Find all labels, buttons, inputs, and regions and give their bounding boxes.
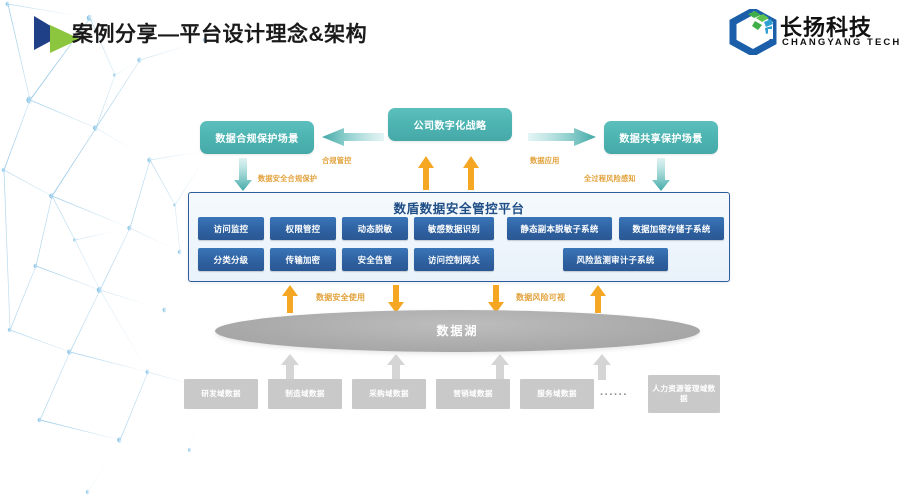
- brand-name-en: CHANGYANG TECH: [782, 37, 901, 48]
- arrow-down-left-icon: [233, 158, 253, 192]
- arrow-right-data-application-icon: [528, 127, 598, 147]
- platform-module-classification-grading[interactable]: 分类分级: [198, 248, 264, 271]
- source-box-manufacturing[interactable]: 制造域数据: [268, 379, 342, 409]
- arrow-up-source-1-icon: [280, 354, 300, 380]
- data-lake-shape: 数据湖: [215, 310, 700, 352]
- arrow-up-source-4-icon: [592, 354, 612, 380]
- platform-module-permission-control[interactable]: 权限管控: [270, 217, 336, 240]
- data-lake-label: 数据湖: [436, 322, 478, 339]
- caption-compliance-control: 合规管控: [322, 156, 352, 166]
- strategy-center-box[interactable]: 公司数字化战略: [388, 108, 512, 141]
- caption-data-risk-visibility: 数据风险可视: [516, 292, 565, 303]
- slide-header: 案例分享—平台设计理念&架构 长扬科技 CHANGYANG TECH: [0, 0, 916, 62]
- caption-data-security-usage: 数据安全使用: [316, 292, 365, 303]
- arrow-up-orange-left-icon: [417, 156, 435, 190]
- arrow-up-source-3-icon: [490, 354, 510, 380]
- platform-subsystem-encrypted-storage[interactable]: 数据加密存储子系统: [619, 217, 724, 240]
- platform-module-access-monitoring[interactable]: 访问监控: [198, 217, 264, 240]
- caption-data-security-compliance-protection: 数据安全合规保护: [258, 174, 317, 184]
- caption-full-process-risk-awareness: 全过程风险感知: [584, 174, 636, 184]
- arrow-up-source-2-icon: [386, 354, 406, 380]
- source-box-marketing[interactable]: 营销域数据: [436, 379, 510, 409]
- platform-module-transmission-encryption[interactable]: 传输加密: [270, 248, 336, 271]
- source-ellipsis: ······: [600, 389, 628, 401]
- strategy-right-scenario-box[interactable]: 数据共享保护场景: [604, 121, 718, 154]
- changyang-hexagon-icon: [728, 9, 778, 55]
- arrow-down-lake-left-icon: [387, 285, 405, 313]
- page-title: 案例分享—平台设计理念&架构: [72, 18, 367, 48]
- arrow-up-lake-left-icon: [281, 285, 299, 313]
- slide-canvas: 案例分享—平台设计理念&架构 长扬科技 CHANGYANG TECH 公司数字化…: [0, 0, 916, 498]
- company-logo: 长扬科技 CHANGYANG TECH: [728, 8, 900, 56]
- source-box-service[interactable]: 服务域数据: [520, 379, 594, 409]
- platform-subsystem-risk-monitoring-audit[interactable]: 风险监测审计子系统: [563, 248, 668, 271]
- arrow-left-compliance-icon: [320, 127, 384, 147]
- arrow-up-lake-right-icon: [589, 285, 607, 313]
- strategy-left-scenario-box[interactable]: 数据合规保护场景: [200, 121, 314, 154]
- source-box-hr[interactable]: 人力资源管理域数据: [648, 375, 720, 413]
- arrow-up-orange-right-icon: [462, 156, 480, 190]
- platform-module-sensitive-data-identification[interactable]: 敏感数据识别: [414, 217, 494, 240]
- source-box-rd[interactable]: 研发域数据: [184, 379, 258, 409]
- platform-module-security-alerting[interactable]: 安全告管: [342, 248, 408, 271]
- platform-panel: 数盾数据安全管控平台 访问监控 权限管控 动态脱敏 敏感数据识别 分类分级 传输…: [188, 192, 730, 282]
- arrow-down-right-icon: [651, 158, 671, 192]
- platform-title: 数盾数据安全管控平台: [189, 198, 729, 217]
- platform-module-access-control-gateway[interactable]: 访问控制网关: [414, 248, 494, 271]
- platform-module-dynamic-masking[interactable]: 动态脱敏: [342, 217, 408, 240]
- caption-data-application: 数据应用: [530, 156, 560, 166]
- arrow-down-lake-right-icon: [487, 285, 505, 313]
- platform-subsystem-static-copy-masking[interactable]: 静态副本脱敏子系统: [507, 217, 612, 240]
- source-box-procurement[interactable]: 采购域数据: [352, 379, 426, 409]
